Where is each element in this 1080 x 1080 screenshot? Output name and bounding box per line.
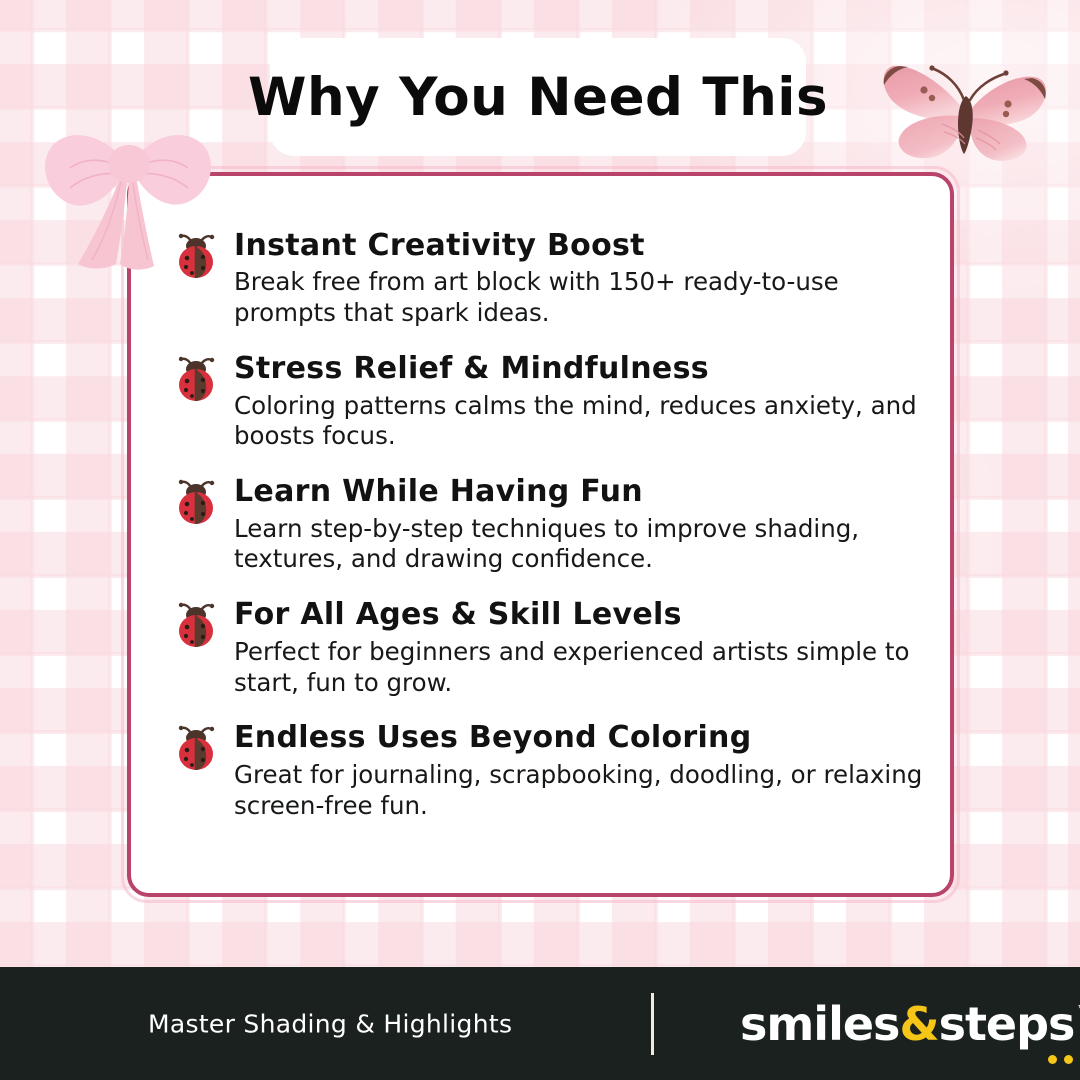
page-title: Why You Need This: [248, 67, 828, 128]
benefit-description: Coloring patterns calms the mind, reduce…: [234, 391, 932, 453]
benefit-description: Break free from art block with 150+ read…: [234, 267, 932, 329]
footer-tagline: Master Shading & Highlights: [148, 1009, 512, 1038]
list-item: Endless Uses Beyond Coloring Great for j…: [172, 720, 932, 821]
benefit-title: Learn While Having Fun: [234, 474, 932, 509]
trademark-symbol: ™: [1076, 1003, 1080, 1016]
footer-divider: [651, 993, 654, 1055]
logo-dots-icon: [1048, 1055, 1080, 1064]
benefits-list: Instant Creativity Boost Break free from…: [172, 228, 932, 822]
list-item: Instant Creativity Boost Break free from…: [172, 228, 932, 329]
benefit-title: For All Ages & Skill Levels: [234, 597, 932, 632]
brand-ampersand: &: [899, 1001, 938, 1047]
ladybug-icon: [172, 601, 222, 651]
brand-logo: smiles & steps ™: [740, 1001, 1080, 1047]
ladybug-icon: [172, 232, 222, 282]
ladybug-icon: [172, 478, 222, 528]
list-item: For All Ages & Skill Levels Perfect for …: [172, 597, 932, 698]
brand-name-part2: steps: [939, 1001, 1075, 1047]
benefit-title: Endless Uses Beyond Coloring: [234, 720, 932, 755]
ladybug-icon: [172, 724, 222, 774]
footer-bar: Master Shading & Highlights smiles & ste…: [0, 967, 1080, 1080]
benefit-title: Instant Creativity Boost: [234, 228, 932, 263]
benefit-description: Learn step-by-step techniques to improve…: [234, 514, 932, 576]
benefit-title: Stress Relief & Mindfulness: [234, 351, 932, 386]
list-item: Stress Relief & Mindfulness Coloring pat…: [172, 351, 932, 452]
title-pill: Why You Need This: [270, 38, 806, 156]
list-item: Learn While Having Fun Learn step-by-ste…: [172, 474, 932, 575]
benefit-description: Great for journaling, scrapbooking, dood…: [234, 760, 932, 822]
brand-name-part1: smiles: [740, 1001, 899, 1047]
benefit-description: Perfect for beginners and experienced ar…: [234, 637, 932, 699]
ladybug-icon: [172, 355, 222, 405]
poster-canvas: Why You Need This: [0, 0, 1080, 1080]
butterfly-icon: [866, 42, 1066, 182]
